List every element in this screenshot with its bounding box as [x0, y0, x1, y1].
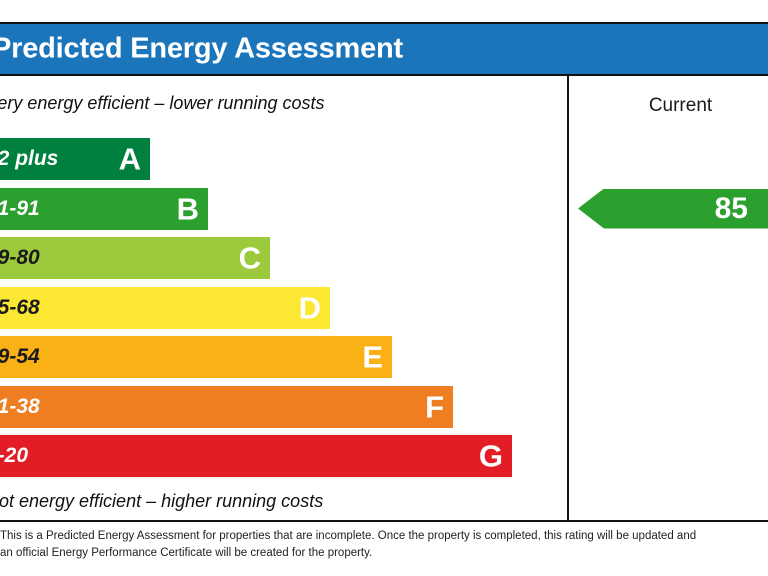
footer-note: This is a Predicted Energy Assessment fo…: [0, 528, 700, 561]
page-title: Predicted Energy Assessment: [0, 33, 403, 66]
energy-band-a: 92 plusA: [0, 138, 150, 180]
band-range-g: 1-20: [0, 444, 28, 468]
rating-arrow-current: 85: [578, 189, 768, 229]
band-range-d: 55-68: [0, 296, 40, 320]
energy-band-g: 1-20G: [0, 435, 512, 477]
band-letter-e: E: [362, 342, 383, 373]
energy-band-f: 21-38F: [0, 386, 453, 428]
band-letter-f: F: [425, 391, 444, 422]
band-range-a: 92 plus: [0, 147, 58, 171]
band-range-e: 39-54: [0, 345, 40, 369]
energy-band-d: 55-68D: [0, 287, 330, 329]
epc-certificate: Predicted Energy Assessment Very energy …: [0, 0, 768, 576]
energy-band-c: 69-80C: [0, 237, 270, 279]
column-header-current: Current: [567, 95, 768, 117]
band-letter-d: D: [299, 292, 321, 323]
band-range-b: 81-91: [0, 197, 40, 221]
efficiency-caption-bottom: Not energy efficient – higher running co…: [0, 491, 323, 512]
energy-band-chart: 92 plusA81-91B69-80C55-68D39-54E21-38F1-…: [0, 138, 574, 483]
band-letter-b: B: [177, 193, 199, 224]
band-letter-g: G: [479, 441, 503, 472]
energy-band-b: 81-91B: [0, 188, 208, 230]
band-letter-c: C: [239, 243, 261, 274]
band-letter-a: A: [119, 144, 141, 175]
energy-band-e: 39-54E: [0, 336, 392, 378]
band-range-f: 21-38: [0, 395, 40, 419]
band-range-c: 69-80: [0, 246, 40, 270]
title-bar: Predicted Energy Assessment: [0, 22, 768, 76]
efficiency-caption-top: Very energy efficient – lower running co…: [0, 93, 325, 114]
